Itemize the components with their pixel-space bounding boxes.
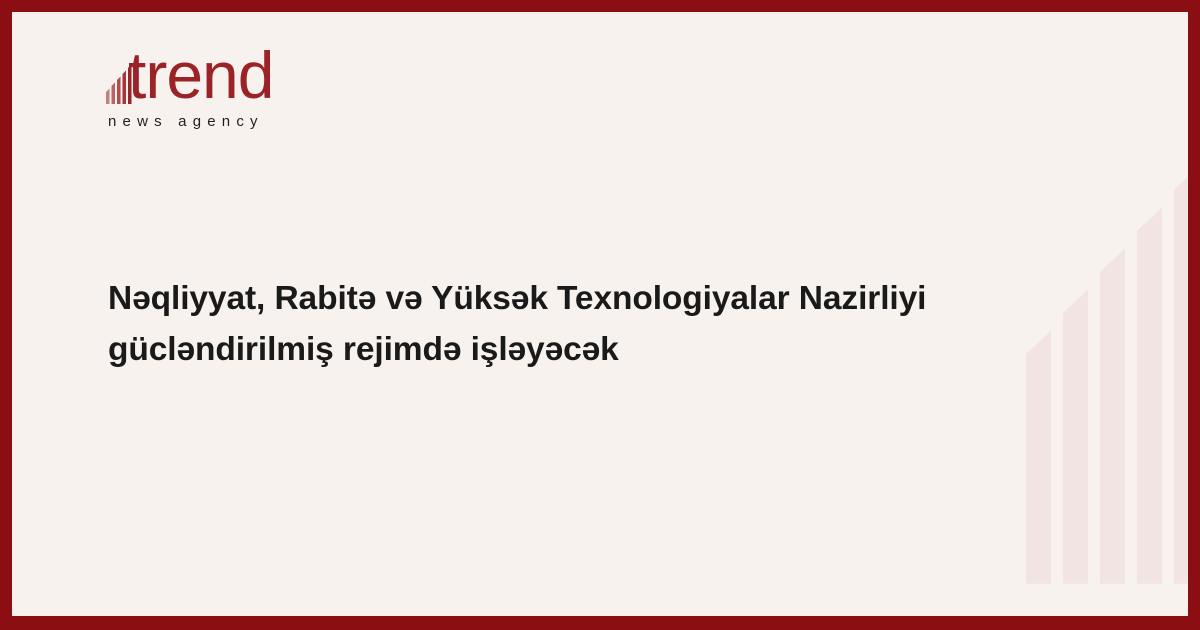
deco-bar-4 — [1137, 207, 1162, 583]
article-headline: Nəqliyyat, Rabitə və Yüksək Texnologiyal… — [108, 274, 1048, 376]
logo-tagline: news agency — [108, 114, 264, 129]
trend-news-agency-logo[interactable]: trend news agency — [98, 48, 358, 148]
news-share-card: trend news agency Nəqliyyat, Rabitə və Y… — [0, 0, 1200, 630]
deco-bar-2 — [1063, 290, 1088, 584]
card-inner-surface: trend news agency Nəqliyyat, Rabitə və Y… — [12, 12, 1188, 616]
logo-wordmark: trend — [128, 42, 273, 108]
deco-bar-5 — [1174, 166, 1188, 583]
deco-bar-3 — [1100, 249, 1125, 584]
